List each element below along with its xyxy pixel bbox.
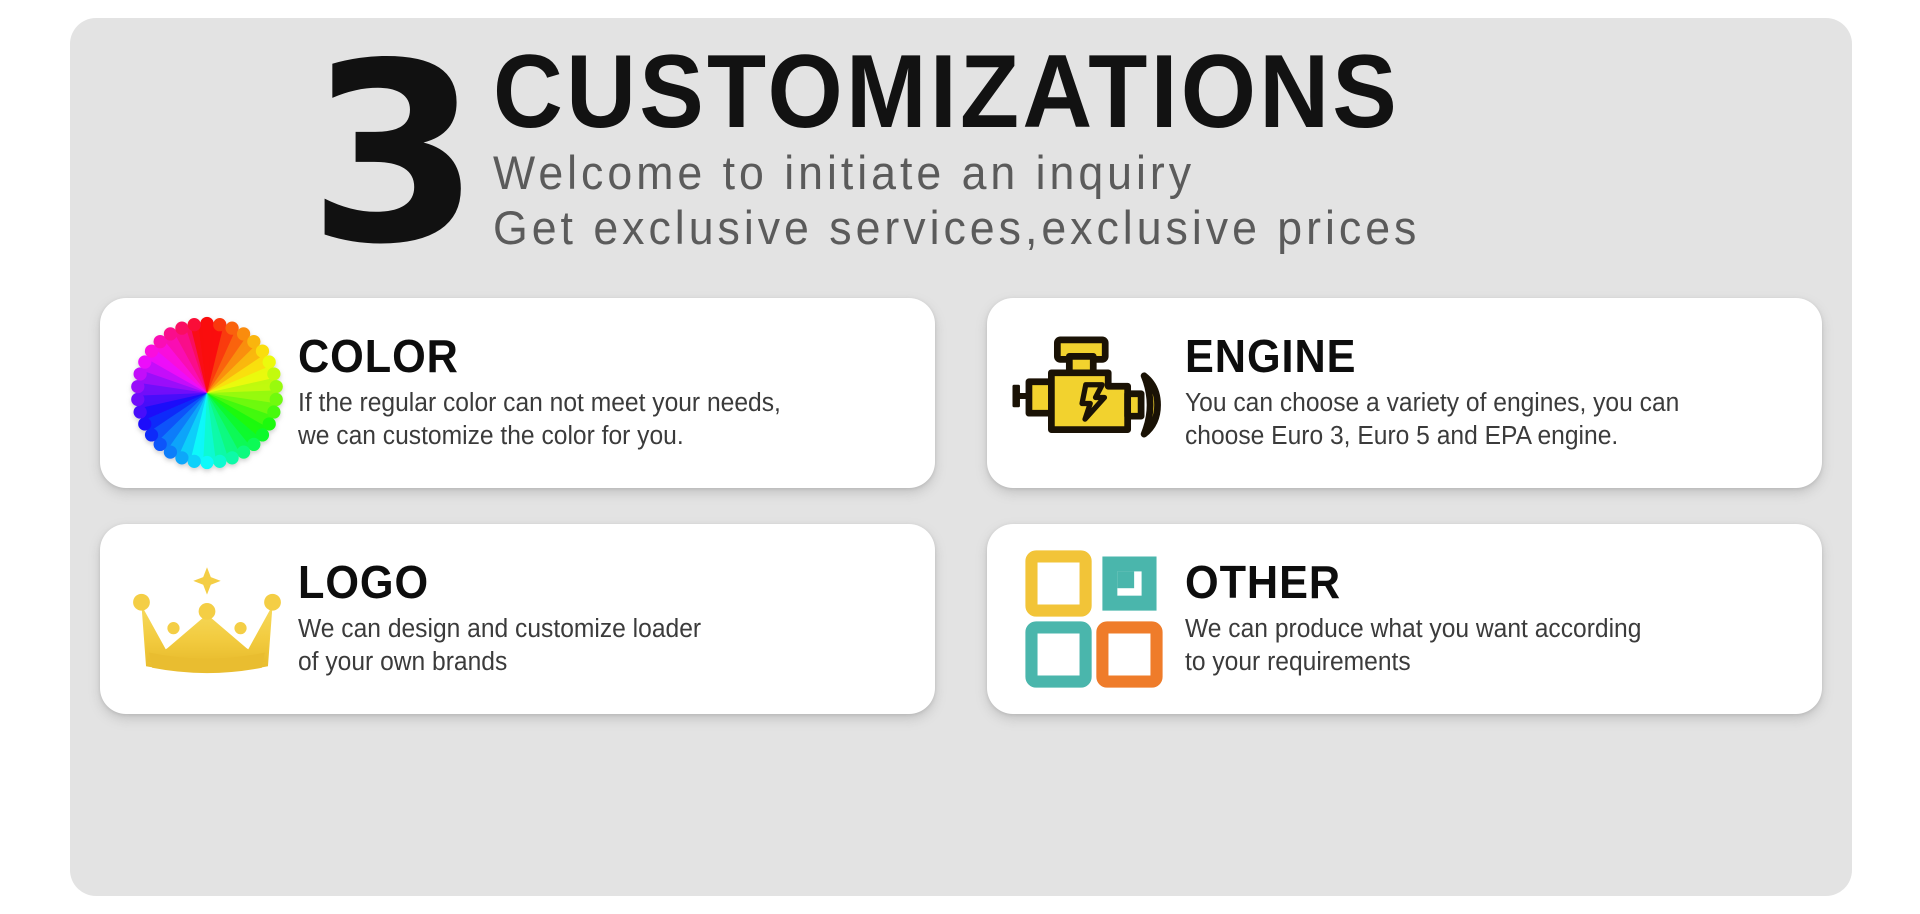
header-subtitle-line-1: Welcome to initiate an inquiry: [493, 148, 1420, 199]
engine-icon-wrap: [1009, 308, 1179, 478]
header-row: 3 CUSTOMIZATIONS Welcome to initiate an …: [308, 34, 1469, 271]
card-text-engine: You can choose a variety of engines, you…: [1185, 387, 1777, 454]
feature-card-other[interactable]: OTHER We can produce what you want accor…: [987, 524, 1822, 714]
page-title: CUSTOMIZATIONS: [493, 42, 1401, 144]
color-wheel-icon: [128, 314, 286, 472]
header-number: 3: [308, 40, 473, 271]
crown-icon: [123, 555, 291, 683]
feature-card-engine[interactable]: ENGINE You can choose a variety of engin…: [987, 298, 1822, 488]
card-title-logo: LOGO: [298, 559, 874, 606]
card-text-other: We can produce what you want according t…: [1185, 613, 1777, 680]
content-panel: 3 CUSTOMIZATIONS Welcome to initiate an …: [70, 18, 1852, 896]
card-title-engine: ENGINE: [1185, 333, 1761, 380]
card-body-color: COLOR If the regular color can not meet …: [292, 333, 915, 454]
card-body-engine: ENGINE You can choose a variety of engin…: [1179, 333, 1802, 454]
feature-card-color[interactable]: COLOR If the regular color can not meet …: [100, 298, 935, 488]
color-wheel-icon-wrap: [122, 308, 292, 478]
card-text-logo: We can design and customize loader of yo…: [298, 613, 890, 680]
card-body-other: OTHER We can produce what you want accor…: [1179, 559, 1802, 680]
crown-icon-wrap: [122, 534, 292, 704]
card-title-color: COLOR: [298, 333, 874, 380]
four-squares-icon: [1024, 549, 1164, 689]
features-grid: COLOR If the regular color can not meet …: [100, 298, 1822, 714]
card-body-logo: LOGO We can design and customize loader …: [292, 559, 915, 680]
header-text-block: CUSTOMIZATIONS Welcome to initiate an in…: [493, 42, 1469, 253]
infographic-canvas: 3 CUSTOMIZATIONS Welcome to initiate an …: [0, 0, 1920, 914]
engine-icon: [1008, 328, 1180, 458]
header-subtitle-line-2: Get exclusive services,exclusive prices: [493, 203, 1420, 254]
four-squares-icon-wrap: [1009, 534, 1179, 704]
sparkle-icon: [193, 567, 220, 594]
card-title-other: OTHER: [1185, 559, 1761, 606]
feature-card-logo[interactable]: LOGO We can design and customize loader …: [100, 524, 935, 714]
card-text-color: If the regular color can not meet your n…: [298, 387, 890, 454]
